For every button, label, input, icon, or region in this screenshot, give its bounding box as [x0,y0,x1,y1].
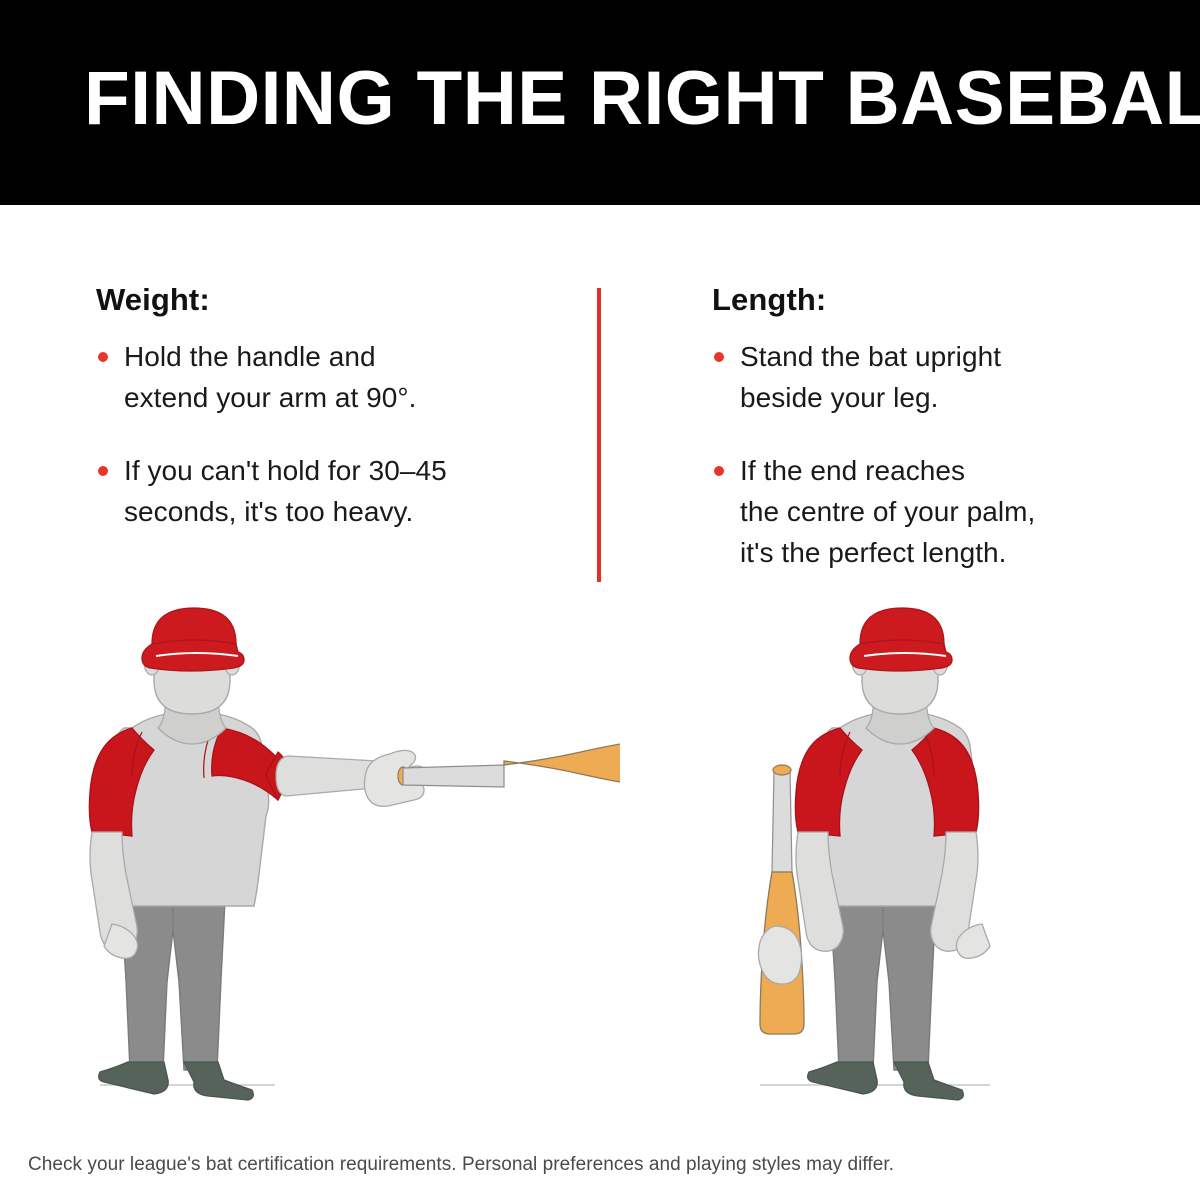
header-band: FINDING THE RIGHT BASEBALL BAT [0,0,1200,205]
bat-barrel [504,742,620,784]
shoe-left [99,1062,169,1094]
column-divider [597,288,601,582]
bullet-list-length: Stand the bat upright beside your leg. I… [712,336,1112,573]
list-item: If you can't hold for 30–45 seconds, it'… [96,450,566,532]
heading-weight: Weight: [96,282,566,318]
bullet-list-weight: Hold the handle and extend your arm at 9… [96,336,566,532]
bullet-text: If you can't hold for 30–45 seconds, it'… [124,450,566,532]
page-title: FINDING THE RIGHT BASEBALL BAT [84,58,1108,140]
column-weight: Weight: Hold the handle and extend your … [96,282,566,532]
bullet-dot-icon [98,352,108,362]
list-item: Stand the bat upright beside your leg. [712,336,1112,418]
infographic-page: FINDING THE RIGHT BASEBALL BAT Weight: H… [0,0,1200,1200]
bullet-text: Hold the handle and extend your arm at 9… [124,336,566,418]
footer-note: Check your league's bat certification re… [28,1152,1178,1178]
heading-length: Length: [712,282,1112,318]
illustration-area [0,600,1200,1110]
baseball-bat-horizontal [398,600,620,787]
bullet-text: Stand the bat upright beside your leg. [740,336,1112,418]
player-figure-left [89,600,620,1100]
bullet-text: If the end reaches the centre of your pa… [740,450,1112,573]
list-item: If the end reaches the centre of your pa… [712,450,1112,573]
list-item: Hold the handle and extend your arm at 9… [96,336,566,418]
bullet-dot-icon [714,466,724,476]
bullet-dot-icon [714,352,724,362]
bat-helper [504,600,620,765]
shoe-right [184,1062,253,1100]
shoe-right [894,1062,963,1100]
bullet-dot-icon [98,466,108,476]
shoe-left [808,1062,878,1094]
bat-handle [403,765,504,787]
bat-knob [773,765,791,775]
bat-handle [772,770,792,872]
illustration-length-test [740,600,1040,1110]
hand-gripping-bat [758,926,801,984]
player-figure-right [758,608,990,1100]
illustration-weight-test [60,600,620,1110]
column-length: Length: Stand the bat upright beside you… [712,282,1112,573]
